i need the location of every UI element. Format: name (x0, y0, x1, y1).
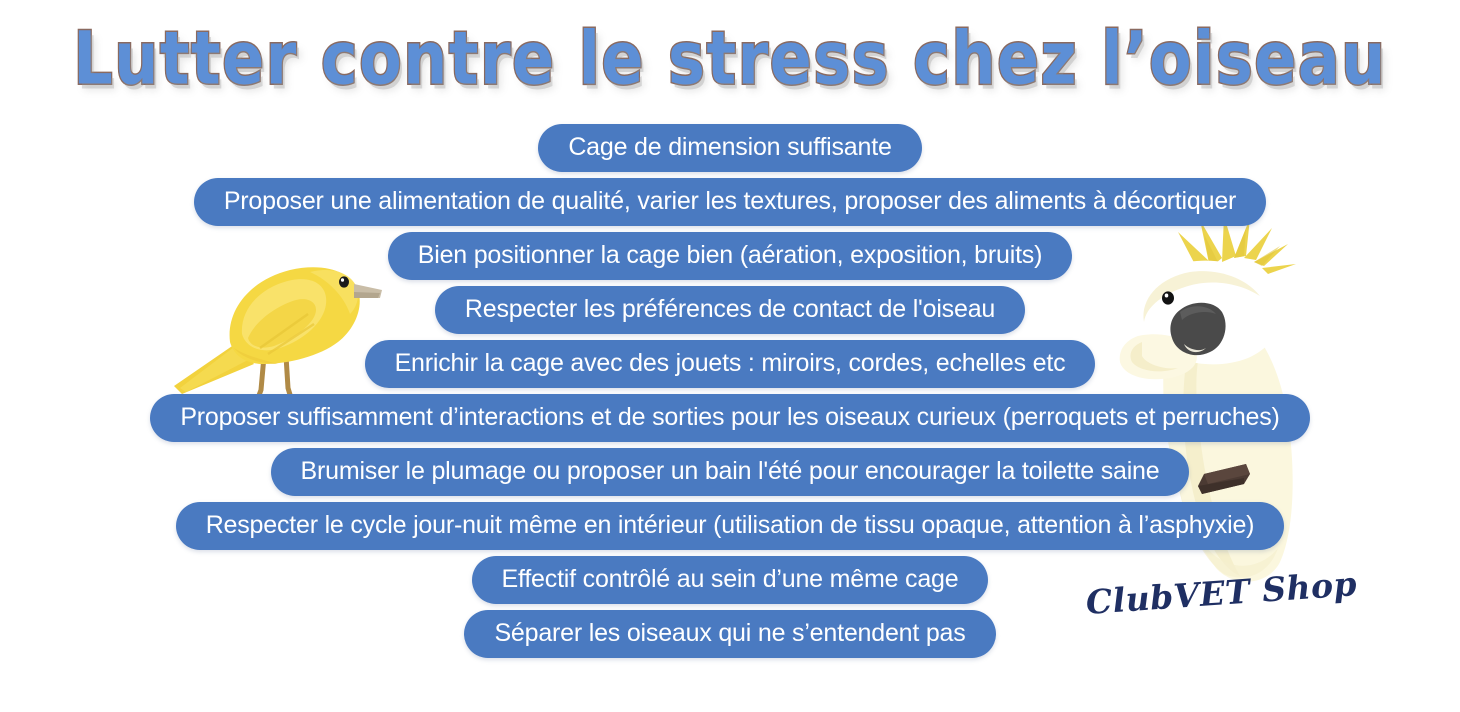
tip-pill-misting-bath[interactable]: Brumiser le plumage ou proposer un bain … (271, 448, 1190, 496)
infographic-canvas: Lutter contre le stress chez l’oiseau (0, 0, 1460, 712)
tip-pill-interactions-outings[interactable]: Proposer suffisamment d’interactions et … (150, 394, 1309, 442)
tip-pill-cage-size[interactable]: Cage de dimension suffisante (538, 124, 921, 172)
tip-pill-food-quality[interactable]: Proposer une alimentation de qualité, va… (194, 178, 1266, 226)
tip-pill-cage-position[interactable]: Bien positionner la cage bien (aération,… (388, 232, 1073, 280)
page-title: Lutter contre le stress chez l’oiseau (73, 14, 1387, 104)
tip-pill-day-night-cycle[interactable]: Respecter le cycle jour-nuit même en int… (176, 502, 1285, 550)
tip-pill-separate-birds[interactable]: Séparer les oiseaux qui ne s’entendent p… (464, 610, 995, 658)
tip-pill-flock-size[interactable]: Effectif contrôlé au sein d’une même cag… (472, 556, 989, 604)
title-container: Lutter contre le stress chez l’oiseau (0, 14, 1460, 90)
tip-pill-enrichment-toys[interactable]: Enrichir la cage avec des jouets : miroi… (365, 340, 1096, 388)
tip-pill-contact-preferences[interactable]: Respecter les préférences de contact de … (435, 286, 1025, 334)
